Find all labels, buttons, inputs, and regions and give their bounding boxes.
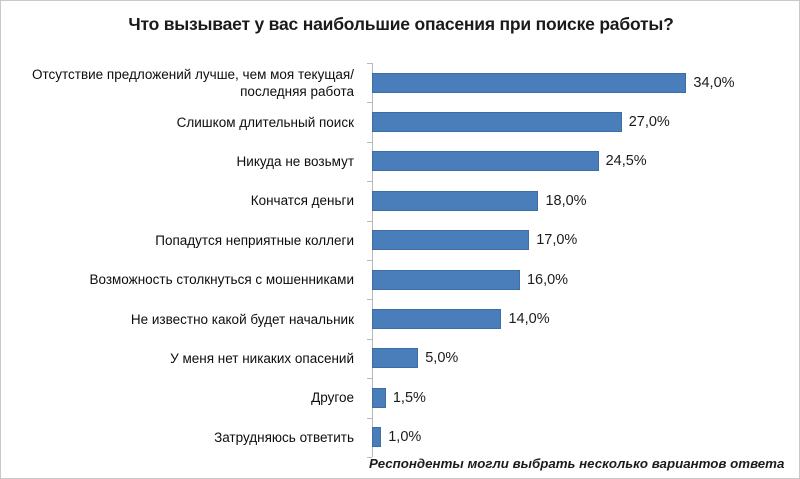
- bar-value-label: 24,5%: [606, 153, 647, 169]
- bar[interactable]: [372, 270, 520, 290]
- axis-tick: [367, 142, 372, 143]
- bar[interactable]: [372, 427, 381, 447]
- category-label: Попадутся неприятные коллеги: [23, 221, 363, 260]
- bar-series: 34,0%27,0%24,5%18,0%17,0%16,0%14,0%5,0%1…: [372, 63, 790, 457]
- bar-value-label: 18,0%: [545, 193, 586, 209]
- bar-row: 27,0%: [372, 102, 790, 141]
- bar-row: 24,5%: [372, 142, 790, 181]
- bar-row: 16,0%: [372, 260, 790, 299]
- chart-annotation: Респонденты могли выбрать несколько вари…: [369, 456, 793, 471]
- bar-row: 17,0%: [372, 221, 790, 260]
- axis-tick: [367, 63, 372, 64]
- bar-value-label: 16,0%: [527, 272, 568, 288]
- bar[interactable]: [372, 230, 529, 250]
- axis-tick: [367, 221, 372, 222]
- bar[interactable]: [372, 388, 386, 408]
- bar-row: 1,5%: [372, 378, 790, 417]
- axis-tick: [367, 181, 372, 182]
- category-label: Кончатся деньги: [23, 181, 363, 220]
- bar-value-label: 17,0%: [536, 232, 577, 248]
- bar[interactable]: [372, 348, 418, 368]
- bar[interactable]: [372, 112, 622, 132]
- category-axis-labels: Отсутствие предложений лучше, чем моя те…: [1, 63, 363, 457]
- axis-tick: [367, 378, 372, 379]
- chart-container: Что вызывает у вас наибольшие опасения п…: [0, 0, 800, 479]
- bar-value-label: 1,0%: [388, 429, 421, 445]
- bar-row: 34,0%: [372, 63, 790, 102]
- bar-row: 1,0%: [372, 418, 790, 457]
- chart-title: Что вызывает у вас наибольшие опасения п…: [1, 14, 800, 35]
- category-label: Слишком длительный поиск: [23, 102, 363, 141]
- bar-row: 18,0%: [372, 181, 790, 220]
- category-label: Не известно какой будет начальник: [23, 299, 363, 338]
- bar-value-label: 1,5%: [393, 390, 426, 406]
- category-label: У меня нет никаких опасений: [23, 339, 363, 378]
- axis-tick: [367, 339, 372, 340]
- bar-value-label: 5,0%: [425, 350, 458, 366]
- bar-value-label: 14,0%: [508, 311, 549, 327]
- axis-tick: [367, 260, 372, 261]
- bar[interactable]: [372, 73, 686, 93]
- axis-tick: [367, 299, 372, 300]
- category-label: Другое: [23, 378, 363, 417]
- category-label: Возможность столкнуться с мошенниками: [23, 260, 363, 299]
- axis-tick: [367, 418, 372, 419]
- bar-value-label: 27,0%: [629, 114, 670, 130]
- bar[interactable]: [372, 151, 599, 171]
- axis-tick: [367, 102, 372, 103]
- bar[interactable]: [372, 191, 538, 211]
- bar[interactable]: [372, 309, 501, 329]
- category-label: Отсутствие предложений лучше, чем моя те…: [23, 63, 363, 102]
- category-label: Затрудняюсь ответить: [23, 418, 363, 457]
- category-label: Никуда не возьмут: [23, 142, 363, 181]
- bar-row: 5,0%: [372, 339, 790, 378]
- plot-area: 34,0%27,0%24,5%18,0%17,0%16,0%14,0%5,0%1…: [372, 63, 790, 457]
- bar-value-label: 34,0%: [693, 75, 734, 91]
- bar-row: 14,0%: [372, 299, 790, 338]
